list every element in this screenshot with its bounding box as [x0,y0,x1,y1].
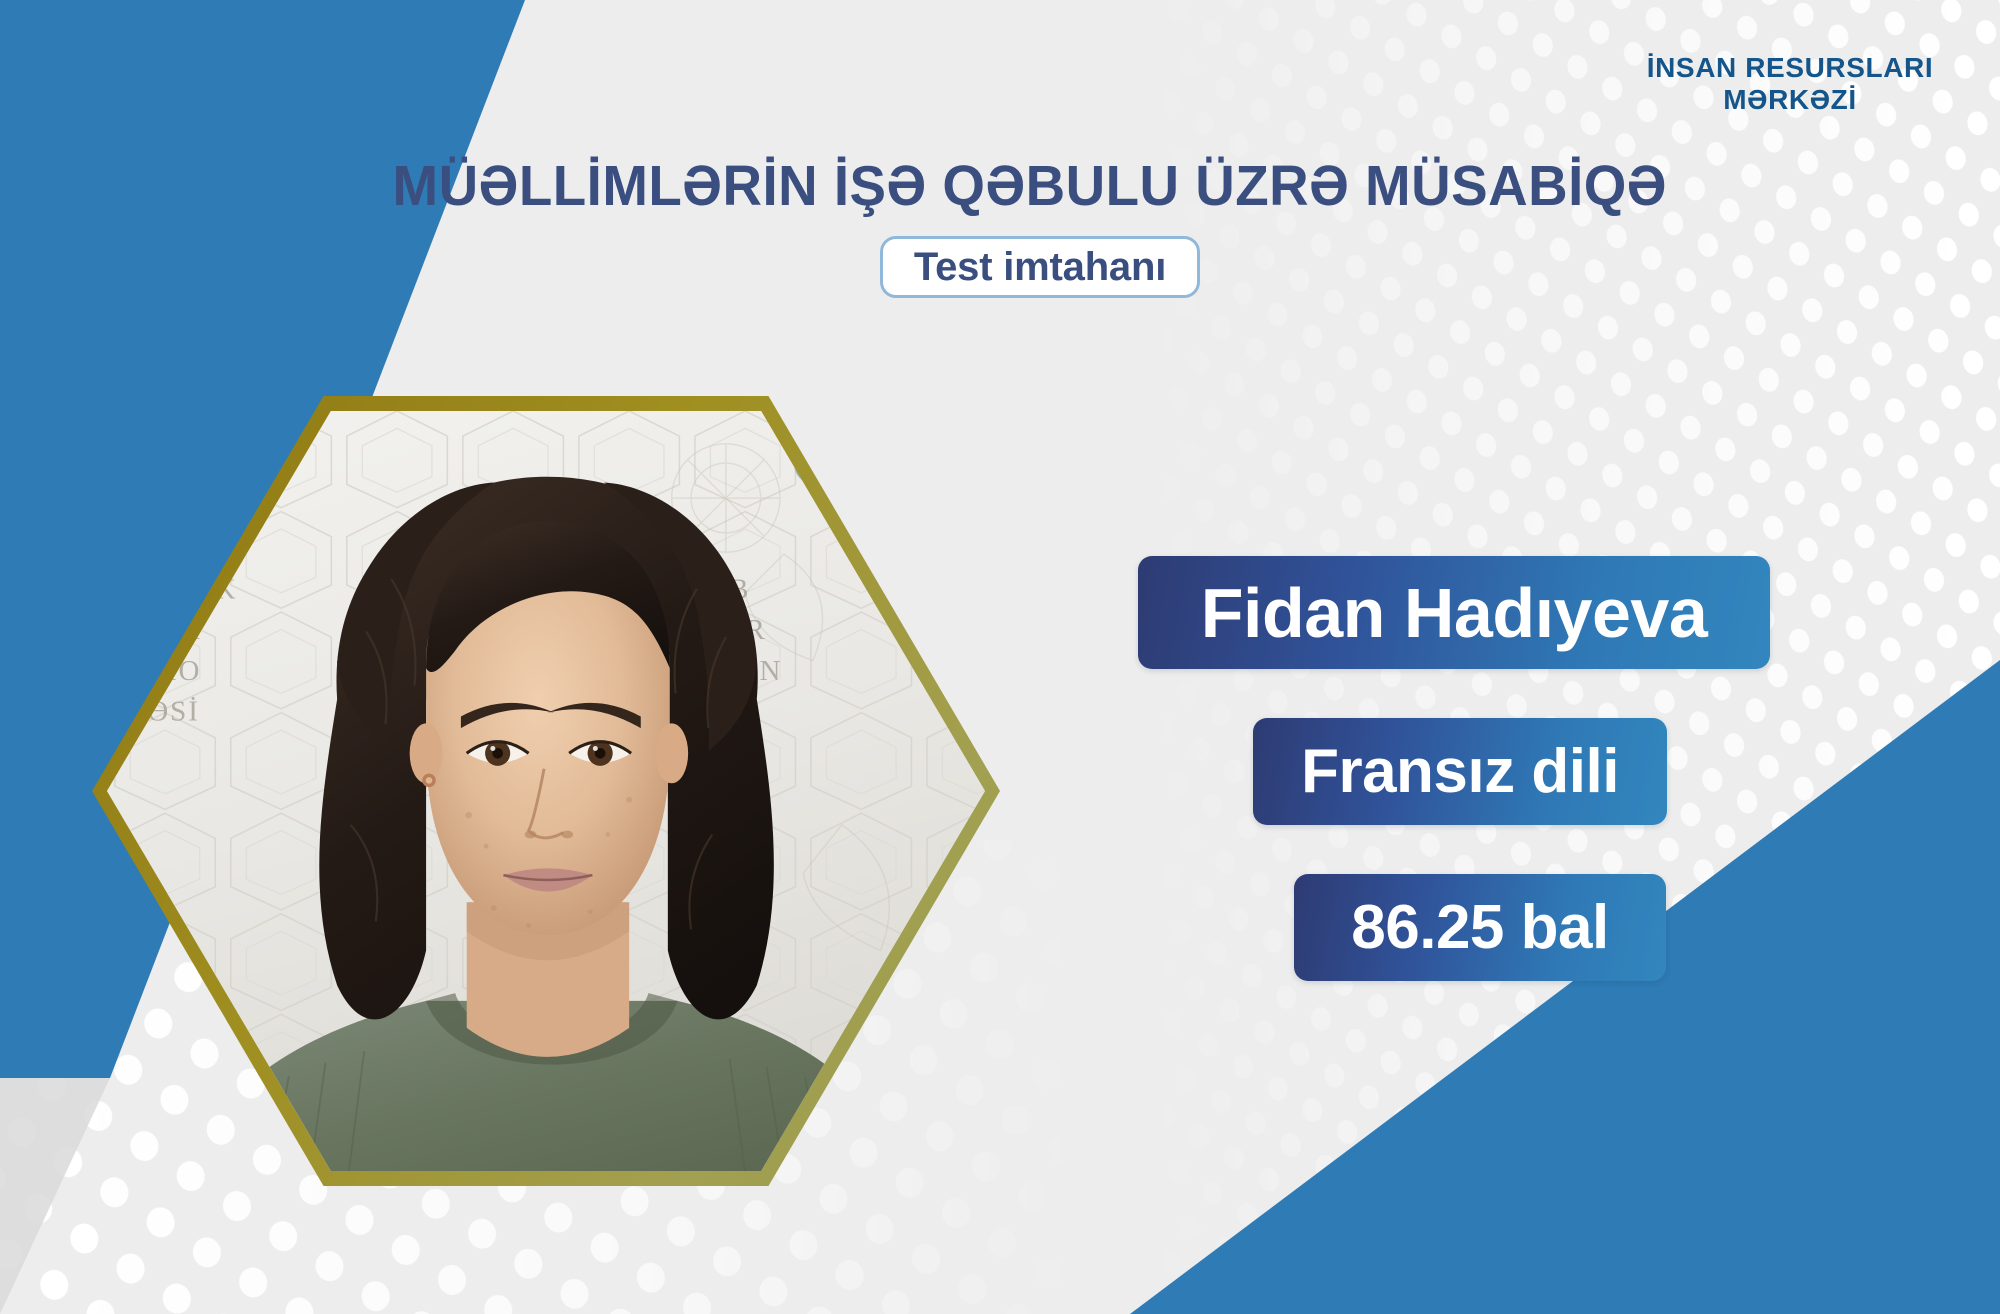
page-title-wrap: MÜƏLLİMLƏRİN İŞƏ QƏBULU ÜZRƏ MÜSABİQƏ [0,158,2000,215]
brand-logo-line1: İNSAN RESURSLARI [1647,52,1934,83]
candidate-subject: Fransız dili [1301,741,1619,803]
exam-type-badge: Test imtahanı [880,236,1200,298]
result-card: İNSAN RESURSLARI MƏRKƏZİ MÜƏLLİMLƏRİN İŞ… [0,0,2000,1314]
brand-logo: İNSAN RESURSLARI MƏRKƏZİ [1620,52,1960,117]
candidate-score: 86.25 bal [1351,897,1608,959]
exam-type-label: Test imtahanı [914,247,1166,287]
candidate-subject-badge: Fransız dili [1253,718,1667,825]
page-title: MÜƏLLİMLƏRİN İŞƏ QƏBULU ÜZRƏ MÜSABİQƏ [393,158,1667,215]
candidate-name-badge: Fidan Hadıyeva [1138,556,1770,669]
brand-logo-line2: MƏRKƏZİ [1620,84,1960,116]
candidate-score-badge: 86.25 bal [1294,874,1666,981]
candidate-name: Fidan Hadıyeva [1201,578,1708,648]
